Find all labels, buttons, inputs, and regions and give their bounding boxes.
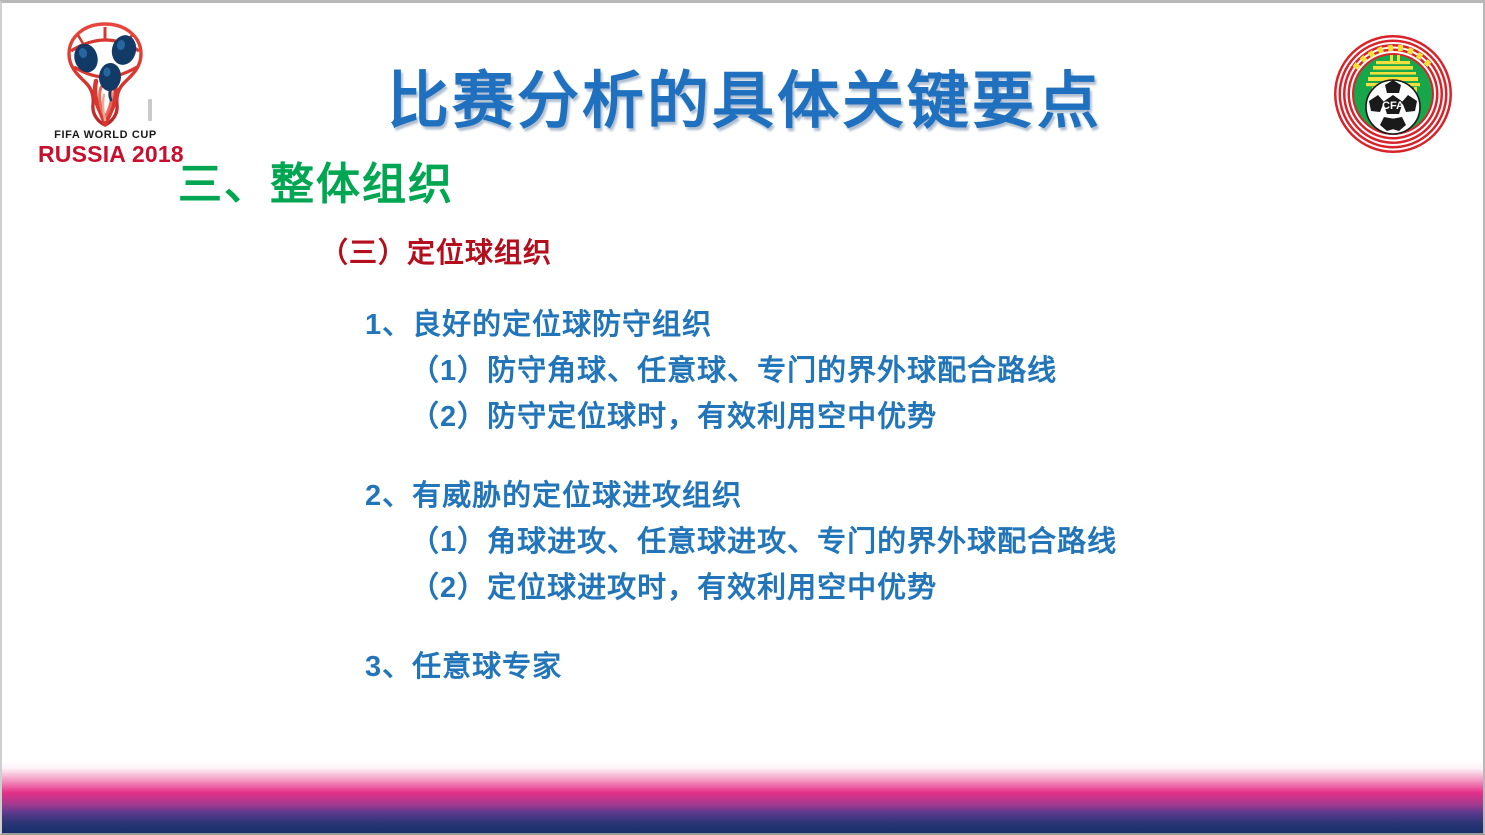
list-sub-item: （1）角球进攻、任意球进攻、专门的界外球配合路线: [410, 519, 1425, 565]
list-item-heading: 3、任意球专家: [365, 645, 1425, 690]
list-sub-item: （2）定位球进攻时，有效利用空中优势: [410, 565, 1425, 611]
list-sub-item: （2）防守定位球时，有效利用空中优势: [410, 394, 1425, 440]
list-item-heading: 1、良好的定位球防守组织: [365, 303, 1425, 348]
presentation-slide: FIFA WORLD CUP RUSSIA 2018: [0, 0, 1485, 835]
section-heading: 三、整体组织: [178, 158, 454, 212]
content-list: 1、良好的定位球防守组织 （1）防守角球、任意球、专门的界外球配合路线 （2）防…: [365, 303, 1425, 690]
fifa-russia2018-text: RUSSIA 2018: [38, 142, 173, 167]
content-group: 3、任意球专家: [365, 645, 1425, 690]
list-item-heading: 2、有威胁的定位球进攻组织: [365, 474, 1425, 519]
bottom-gradient-band: [2, 761, 1483, 833]
content-group: 2、有威胁的定位球进攻组织 （1）角球进攻、任意球进攻、专门的界外球配合路线 （…: [365, 474, 1425, 611]
page-title: 比赛分析的具体关键要点: [2, 65, 1485, 139]
list-sub-item: （1）防守角球、任意球、专门的界外球配合路线: [410, 348, 1425, 394]
subsection-heading: （三）定位球组织: [320, 235, 552, 271]
content-group: 1、良好的定位球防守组织 （1）防守角球、任意球、专门的界外球配合路线 （2）防…: [365, 303, 1425, 440]
